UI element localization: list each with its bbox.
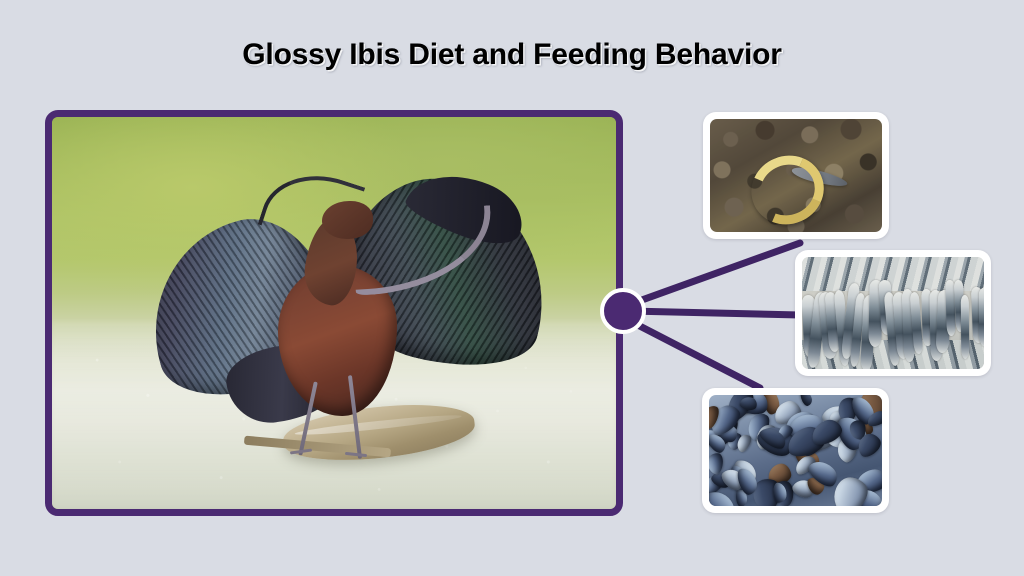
fish [961,294,970,358]
connector-to-larva [628,243,800,305]
mussel-pile [709,395,882,506]
fish-image [802,257,984,369]
diet-thumbnail-fish[interactable] [795,250,991,376]
ibis-foot-right [345,452,367,457]
diet-hub-node[interactable] [600,288,646,334]
connector-to-fish [630,311,800,315]
main-photo-image [52,117,616,509]
fish-pile [802,257,984,369]
fish [978,287,984,347]
diet-thumbnail-mussels[interactable] [702,388,889,513]
main-photo-frame[interactable] [45,110,623,516]
larva-image [710,119,882,232]
diet-thumbnail-larva[interactable] [703,112,889,239]
mussel-shell [798,395,813,408]
mussels-image [709,395,882,506]
slide-canvas: Glossy Ibis Diet and Feeding Behavior [0,0,1024,576]
page-title: Glossy Ibis Diet and Feeding Behavior [0,38,1024,72]
water-background [52,117,616,509]
connector-to-mussels [628,320,760,388]
glossy-ibis [148,172,543,462]
